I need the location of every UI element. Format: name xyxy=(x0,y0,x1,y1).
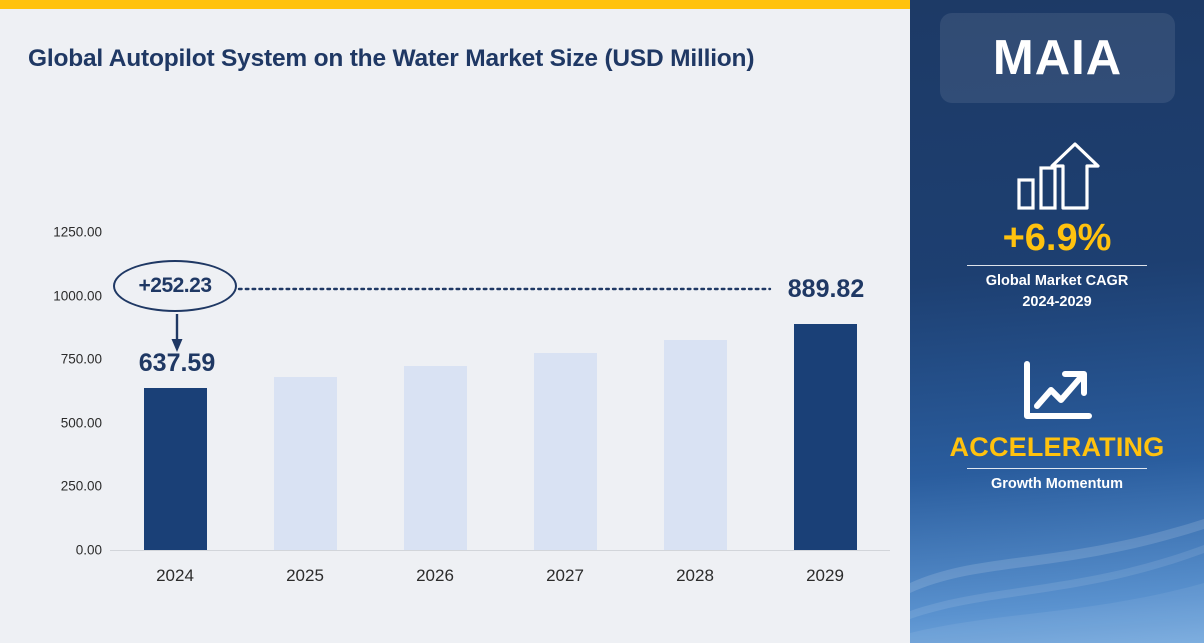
bar-2025[interactable] xyxy=(274,377,337,550)
y-axis-tick-label: 1250.00 xyxy=(12,225,102,240)
x-axis-label-2025: 2025 xyxy=(286,566,324,586)
sidebar: MAIA +6.9% Global Market CAGR 2024-2029 xyxy=(910,0,1204,643)
infographic-root: Global Autopilot System on the Water Mar… xyxy=(0,0,1204,643)
cagr-stat-block: +6.9% Global Market CAGR 2024-2029 xyxy=(910,140,1204,313)
brand-logo: MAIA xyxy=(940,13,1175,103)
x-axis-line xyxy=(110,550,890,551)
y-axis-tick-label: 0.00 xyxy=(12,543,102,558)
cagr-caption-line2: 2024-2029 xyxy=(910,292,1204,313)
y-axis-tick-label: 750.00 xyxy=(12,352,102,367)
y-axis-tick-label: 500.00 xyxy=(12,415,102,430)
y-axis-tick-label: 250.00 xyxy=(12,479,102,494)
chart-panel: Global Autopilot System on the Water Mar… xyxy=(0,9,910,643)
cagr-value: +6.9% xyxy=(910,218,1204,260)
x-axis-label-2027: 2027 xyxy=(546,566,584,586)
momentum-caption: Growth Momentum xyxy=(910,474,1204,495)
bar-value-label-2024: 637.59 xyxy=(139,349,215,378)
x-axis-label-2029: 2029 xyxy=(806,566,844,586)
top-accent-bar xyxy=(0,0,910,9)
x-axis-label-2028: 2028 xyxy=(676,566,714,586)
momentum-value: ACCELERATING xyxy=(910,432,1204,463)
bar-2029[interactable] xyxy=(794,324,857,550)
bar-2024[interactable] xyxy=(144,388,207,550)
x-axis-label-2024: 2024 xyxy=(156,566,194,586)
bar-2028[interactable] xyxy=(664,340,727,550)
cagr-divider xyxy=(967,265,1147,266)
cagr-caption-line1: Global Market CAGR xyxy=(910,271,1204,292)
bar-chart: 0.00 250.00 500.00 750.00 1000.00 1250.0… xyxy=(0,9,910,643)
trend-line-chart-icon xyxy=(910,358,1204,428)
momentum-divider xyxy=(967,468,1147,469)
bar-2026[interactable] xyxy=(404,366,467,550)
bar-chart-up-arrow-icon xyxy=(910,140,1204,216)
momentum-stat-block: ACCELERATING Growth Momentum xyxy=(910,358,1204,495)
bar-value-label-2029: 889.82 xyxy=(788,275,864,304)
y-axis-tick-label: 1000.00 xyxy=(12,288,102,303)
growth-callout-value: +252.23 xyxy=(139,274,212,298)
bar-2027[interactable] xyxy=(534,353,597,550)
x-axis-label-2026: 2026 xyxy=(416,566,454,586)
growth-callout-badge: +252.23 xyxy=(113,260,237,312)
brand-logo-text: MAIA xyxy=(993,30,1122,86)
